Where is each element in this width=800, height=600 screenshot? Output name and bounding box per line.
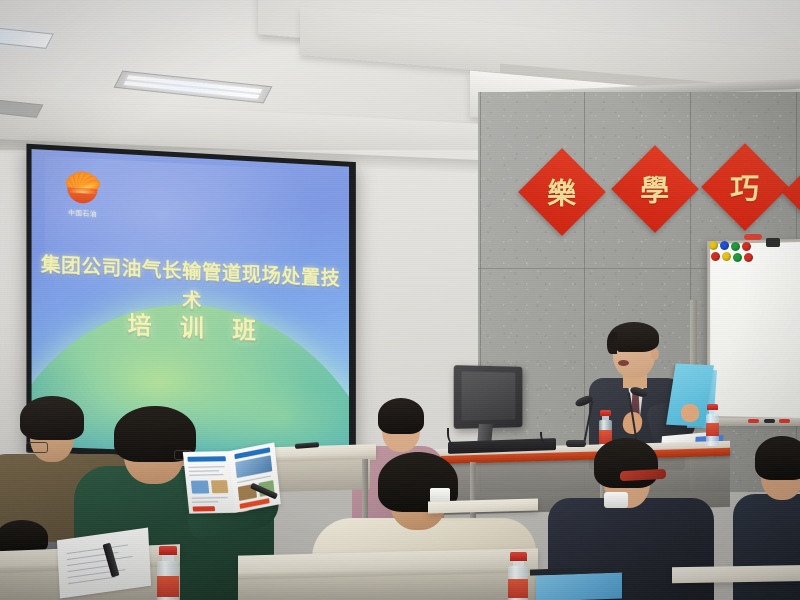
cnpc-logo: 中国石油 <box>54 170 111 219</box>
whiteboard-marker[interactable] <box>764 419 775 423</box>
whiteboard-clip-red <box>744 234 762 240</box>
whiteboard-marker[interactable] <box>748 419 759 423</box>
cnpc-sunburst-icon <box>65 170 99 206</box>
ceiling-light-fixture <box>0 27 54 49</box>
paper-cup <box>604 492 628 508</box>
presenter-mouth <box>618 360 629 366</box>
classroom-photo: 中国石油 集团公司油气长输管道现场处置技术 培 训 班 樂 學 巧 一 标 1 … <box>0 0 800 600</box>
cnpc-logo-caption: 中国石油 <box>54 206 111 219</box>
desk-foreground-right <box>672 565 800 584</box>
whiteboard-magnets[interactable] <box>709 241 755 265</box>
open-booklet[interactable] <box>183 444 281 515</box>
water-bottle[interactable] <box>157 546 179 600</box>
blue-folder-on-desk[interactable] <box>536 572 622 600</box>
plaque-character: 巧 <box>730 166 759 208</box>
plaque-character: 樂 <box>547 171 576 213</box>
ceiling-light-fixture <box>114 71 273 104</box>
whiteboard-clip-black <box>766 238 780 247</box>
glasses-icon <box>26 442 48 453</box>
whiteboard-marker[interactable] <box>779 419 790 423</box>
plaque-character: 學 <box>640 168 669 210</box>
paper-cup <box>430 488 450 502</box>
lcd-monitor-rear <box>454 365 523 429</box>
water-bottle[interactable] <box>508 552 528 600</box>
presenter-hair <box>609 322 659 352</box>
whiteboard: 一 标 1 门4 <box>707 239 800 423</box>
water-bottle <box>706 404 719 446</box>
